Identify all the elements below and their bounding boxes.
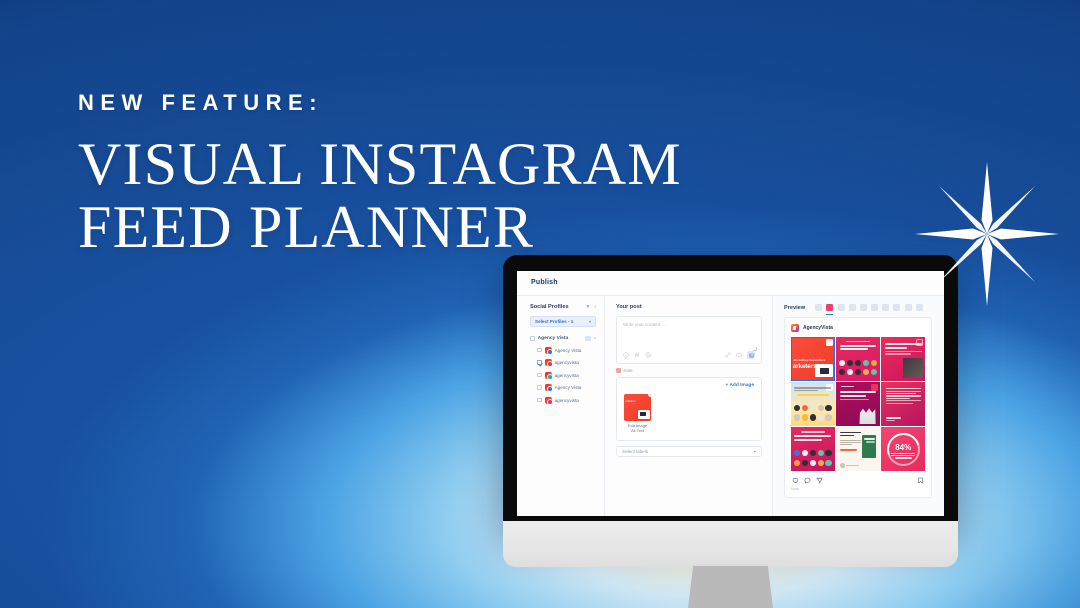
tab-tiktok[interactable]	[905, 304, 912, 311]
your-post-header: Your post	[616, 304, 762, 310]
post-textarea-wrapper[interactable]: Write your content ...	[616, 316, 762, 364]
group-name: Agency Vista	[538, 336, 569, 341]
grid-cell-post-2[interactable]	[836, 337, 880, 381]
image-icon[interactable]	[747, 351, 755, 359]
heart-icon[interactable]	[792, 477, 799, 484]
media-attachments-box: + Add Image arketers × Edit Image Alt Te…	[616, 377, 762, 441]
tab-twitter[interactable]	[849, 304, 856, 311]
warning-icon	[616, 368, 621, 373]
warning-text: Note	[624, 368, 633, 373]
imac-monitor: Publish Social Profiles ▼ ‹ Select Profi…	[503, 255, 958, 608]
your-post-label: Your post	[616, 304, 642, 310]
share-icon[interactable]	[816, 477, 823, 484]
profile-name: agencyvista	[555, 360, 579, 365]
profile-checkbox[interactable]	[537, 348, 542, 353]
avatar	[545, 384, 552, 391]
profile-name: Agency Vista	[555, 385, 582, 390]
app-columns: Social Profiles ▼ ‹ Select Profiles - 1 …	[517, 296, 944, 516]
filter-icon[interactable]: ▼	[585, 304, 590, 310]
app-screen: Publish Social Profiles ▼ ‹ Select Profi…	[517, 271, 944, 516]
profile-checkbox[interactable]	[537, 398, 542, 403]
grid-cell-post-4[interactable]	[791, 382, 835, 426]
list-item[interactable]: Agency Vista	[537, 347, 596, 354]
list-item[interactable]: agencyvista	[537, 397, 596, 404]
avatar	[545, 397, 552, 404]
profile-name: agencyvista	[555, 373, 579, 378]
tab-vimeo[interactable]	[893, 304, 900, 311]
status-badge: Note	[616, 368, 762, 373]
eyebrow-text: NEW FEATURE:	[78, 92, 682, 114]
list-item[interactable]: agencyvista	[537, 372, 596, 379]
tab-linkedin[interactable]	[838, 304, 845, 311]
group-checkbox[interactable]	[530, 336, 535, 341]
instagram-action-bar	[791, 477, 925, 484]
avatar	[545, 372, 552, 379]
tab-pinterest[interactable]	[882, 304, 889, 311]
add-image-button[interactable]: + Add Image	[726, 383, 754, 388]
post-timestamp: Now	[791, 487, 925, 491]
platform-tabs	[815, 304, 923, 311]
tab-google-business[interactable]	[871, 304, 878, 311]
title-line-1: VISUAL INSTAGRAM	[78, 131, 682, 197]
emoji-icon[interactable]	[623, 352, 629, 358]
profile-checkbox[interactable]	[537, 360, 542, 365]
alt-caption-line-1: Edit Image	[628, 423, 647, 428]
monitor-stand	[686, 566, 775, 608]
thumbnail-image: arketers ×	[624, 394, 651, 421]
instagram-preview-card: AgencyVista Marketing Newsletters arkete…	[784, 317, 932, 498]
link-icon[interactable]	[725, 352, 731, 358]
chevron-down-icon: ▾	[754, 449, 756, 454]
monitor-chin	[503, 521, 958, 567]
grid-cell-post-7[interactable]	[791, 427, 835, 471]
close-icon[interactable]: ×	[648, 394, 651, 397]
gif-icon[interactable]	[736, 352, 742, 358]
grid-cell-post-8[interactable]	[836, 427, 880, 471]
preview-label: Preview	[784, 305, 805, 311]
tab-instagram[interactable]	[826, 304, 833, 311]
mention-icon[interactable]	[645, 352, 651, 358]
grid-cell-post-6[interactable]	[881, 382, 925, 426]
grid-cell-post-1[interactable]: Marketing Newsletters arketers	[791, 337, 835, 381]
list-item[interactable]: Agency Vista	[537, 384, 596, 391]
social-profiles-panel: Social Profiles ▼ ‹ Select Profiles - 1 …	[517, 296, 605, 516]
cell-badge-icon	[826, 339, 833, 346]
chevron-down-icon: ▾	[589, 319, 591, 324]
page-title: VISUAL INSTAGRAM FEED PLANNER	[78, 136, 682, 256]
profile-name: Agency Vista	[555, 348, 582, 353]
tab-facebook[interactable]	[815, 304, 822, 311]
comment-icon[interactable]	[804, 477, 811, 484]
account-row: AgencyVista	[791, 324, 925, 332]
profile-checkbox[interactable]	[537, 373, 542, 378]
post-composer-panel: Your post Write your content ...	[605, 296, 773, 516]
labels-select[interactable]: Select labels ▾	[616, 446, 762, 457]
select-profiles-button[interactable]: Select Profiles - 1 ▾	[530, 316, 596, 327]
preview-panel: Preview	[773, 296, 944, 516]
grid-cell-post-3[interactable]	[881, 337, 925, 381]
profile-checkbox[interactable]	[537, 385, 542, 390]
title-line-2: FEED PLANNER	[78, 199, 682, 256]
instagram-feed-grid: Marketing Newsletters arketers	[791, 337, 925, 471]
tab-youtube[interactable]	[860, 304, 867, 311]
edit-alt-text-button[interactable]: Edit Image Alt Text	[624, 423, 651, 434]
avatar	[545, 359, 552, 366]
avatar	[545, 347, 552, 354]
group-count-badge	[585, 336, 591, 341]
social-profiles-label: Social Profiles	[530, 304, 569, 310]
stat-value: 84%	[881, 443, 925, 452]
bookmark-icon[interactable]	[917, 477, 924, 484]
alt-caption-line-2: Alt Text	[631, 428, 644, 433]
grid-cell-post-5[interactable]	[836, 382, 880, 426]
grid-cell-post-9[interactable]: 84%	[881, 427, 925, 471]
profile-name: agencyvista	[555, 398, 579, 403]
monitor-bezel: Publish Social Profiles ▼ ‹ Select Profi…	[503, 255, 958, 527]
chevron-left-icon[interactable]: ‹	[594, 304, 596, 310]
chevron-up-icon[interactable]: ^	[594, 336, 596, 341]
post-placeholder: Write your content ...	[623, 322, 755, 327]
headline-block: NEW FEATURE: VISUAL INSTAGRAM FEED PLANN…	[78, 92, 682, 256]
account-name: AgencyVista	[803, 325, 833, 331]
social-profiles-header: Social Profiles ▼ ‹	[530, 304, 596, 310]
agency-vista-logo-icon	[791, 324, 799, 332]
labels-placeholder: Select labels	[622, 449, 648, 454]
select-profiles-label: Select Profiles - 1	[535, 319, 573, 324]
profile-group-row[interactable]: Agency Vista ^	[530, 336, 596, 341]
attachment-thumbnail[interactable]: arketers × Edit Image Alt Text	[624, 394, 651, 434]
list-item[interactable]: agencyvista	[537, 359, 596, 366]
hashtag-icon[interactable]	[634, 352, 640, 358]
app-page-title: Publish	[531, 279, 558, 286]
sparkle-star-icon	[913, 160, 1061, 308]
